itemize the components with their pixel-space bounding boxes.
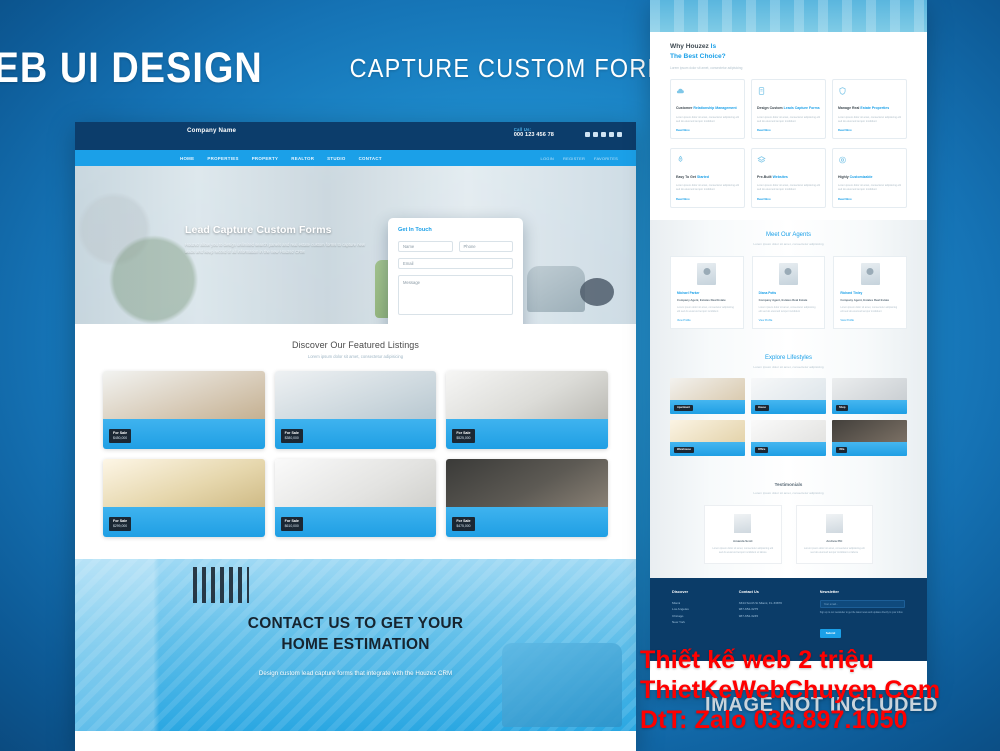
listing-price: $475,000 bbox=[456, 524, 470, 529]
feature-desc: Lorem ipsum dolor sit amet, consectetur … bbox=[838, 116, 901, 124]
feature-title: Highly Customizable bbox=[838, 175, 901, 180]
feature-read-more[interactable]: Read More bbox=[676, 129, 739, 132]
testimonial-name: Andrew Pitt bbox=[804, 539, 866, 543]
agent-name: Diana Potts bbox=[759, 291, 819, 295]
feature-read-more[interactable]: Read More bbox=[838, 198, 901, 201]
lifestyle-photo bbox=[832, 420, 907, 444]
listing-badge: For Sale $380,000 bbox=[281, 429, 303, 444]
why-subheading: Lorem ipsum dolor sit amet, consectetur … bbox=[670, 66, 907, 70]
agent-name: Richard Tinley bbox=[840, 291, 900, 295]
listing-photo bbox=[275, 459, 437, 511]
testimonial-card[interactable]: Amanda Scott Lorem ipsum dolor sit amet,… bbox=[704, 505, 782, 565]
call-us-block: Call Us: 000 123 456 78 bbox=[514, 127, 554, 138]
feature-read-more[interactable]: Read More bbox=[676, 198, 739, 201]
avatar bbox=[779, 263, 798, 285]
footer-discover-column: Discover Miami Los Angeles Chicago New Y… bbox=[672, 590, 729, 639]
linkedin-icon[interactable] bbox=[609, 132, 614, 137]
listing-card[interactable]: For Sale $450,000 bbox=[103, 371, 265, 449]
listing-photo bbox=[446, 371, 608, 423]
listings-grid: For Sale $450,000 For Sale $380,000 bbox=[75, 371, 636, 537]
feature-desc: Lorem ipsum dolor sit amet, consectetur … bbox=[676, 184, 739, 192]
watermark-line-1: Thiết kế web 2 triệu bbox=[640, 646, 874, 675]
listing-price: $525,000 bbox=[456, 436, 470, 441]
twitter-icon[interactable] bbox=[617, 132, 622, 137]
feature-title: Easy To Get Started bbox=[676, 175, 739, 180]
listing-badge: For Sale $475,000 bbox=[452, 517, 474, 532]
hero-text-block: Lead Capture Custom Forms Houzez allow y… bbox=[185, 224, 375, 255]
rocket-icon bbox=[676, 155, 685, 165]
lifestyle-tag: House bbox=[755, 405, 769, 411]
listing-price: $610,000 bbox=[285, 524, 299, 529]
feature-title: Manage Real Estate Properties bbox=[838, 106, 901, 111]
hero-heading: Lead Capture Custom Forms bbox=[185, 224, 375, 236]
facebook-icon[interactable] bbox=[585, 132, 590, 137]
agent-view-profile[interactable]: View Profile bbox=[759, 319, 819, 322]
newsletter-note: Sign up to our newsletter to get the lat… bbox=[820, 612, 905, 616]
nav-item-studio[interactable]: STUDIO bbox=[327, 156, 345, 161]
nav-item-favorites[interactable]: FAVORITES bbox=[594, 156, 618, 161]
agent-desc: Lorem ipsum dolor sit amet, consectetur … bbox=[840, 306, 900, 314]
lifestyle-photo bbox=[670, 378, 745, 402]
testimonial-quote: Lorem ipsum dolor sit amet, consectetur … bbox=[804, 547, 866, 556]
testimonial-photo bbox=[734, 514, 751, 533]
feature-desc: Lorem ipsum dolor sit amet, consectetur … bbox=[676, 116, 739, 124]
listing-badge: For Sale $299,000 bbox=[109, 517, 131, 532]
why-houzez-section: Why Houzez Is The Best Choice? Lorem ips… bbox=[650, 32, 927, 220]
footer-phone-2[interactable]: 987-654-3245 bbox=[739, 613, 810, 619]
cta-heading-line2: HOME ESTIMATION bbox=[75, 634, 636, 655]
site-topbar: Company Name Call Us: 000 123 456 78 bbox=[75, 122, 636, 150]
agent-name: Michael Parker bbox=[677, 291, 737, 295]
lifestyle-tag: Office bbox=[755, 447, 768, 453]
feature-card[interactable]: Design Custom Leads Capture Forms Lorem … bbox=[751, 79, 826, 139]
agents-grid: Michael Parker Company Agent, Estates Re… bbox=[670, 256, 907, 329]
footer-discover-title: Discover bbox=[672, 590, 729, 594]
lifestyle-tile[interactable]: Shop bbox=[832, 378, 907, 414]
lifestyle-tag: Apartment bbox=[674, 405, 693, 411]
cta-heading-line1: CONTACT US TO GET YOUR bbox=[75, 613, 636, 634]
testimonials-heading: Testimonials bbox=[670, 482, 907, 487]
listing-price: $450,000 bbox=[113, 436, 127, 441]
feature-read-more[interactable]: Read More bbox=[757, 198, 820, 201]
message-textarea[interactable]: Message bbox=[398, 275, 513, 315]
watermark-line-2: ThietKeWebChuyen.Com bbox=[640, 676, 940, 705]
listing-price: $299,000 bbox=[113, 524, 127, 529]
testimonials-section: Testimonials Lorem ipsum dolor sit amet,… bbox=[650, 470, 927, 579]
instagram-icon[interactable] bbox=[593, 132, 598, 137]
get-in-touch-form[interactable]: Get In Touch Name Phone Email Message bbox=[388, 218, 523, 324]
nav-links[interactable]: HOME PROPERTIES PROPERTY REALTOR STUDIO … bbox=[180, 156, 382, 161]
cta-section: CONTACT US TO GET YOUR HOME ESTIMATION D… bbox=[75, 559, 636, 731]
listings-subheading: Lorem ipsum dolor sit amet, consectetur … bbox=[75, 354, 636, 359]
cloud-icon bbox=[676, 86, 685, 96]
newsletter-email-input[interactable]: Your email... bbox=[820, 600, 905, 608]
form-icon bbox=[757, 86, 766, 96]
listing-photo bbox=[275, 371, 437, 423]
listing-badge: For Sale $525,000 bbox=[452, 429, 474, 444]
agent-role: Company Agent, Estates Real Estate bbox=[840, 298, 900, 302]
lifestyle-photo bbox=[832, 378, 907, 402]
lifestyle-tile[interactable]: Villa bbox=[832, 420, 907, 456]
feature-title: Design Custom Leads Capture Forms bbox=[757, 106, 820, 111]
agent-view-profile[interactable]: View Profile bbox=[840, 319, 900, 322]
lifestyles-heading: Explore Lifestyles bbox=[670, 355, 907, 361]
hero-section: Lead Capture Custom Forms Houzez allow y… bbox=[75, 166, 636, 324]
lifestyle-photo bbox=[751, 378, 826, 402]
pinterest-icon[interactable] bbox=[601, 132, 606, 137]
listing-photo bbox=[103, 459, 265, 511]
agent-card[interactable]: Diana Potts Company Agent, Estates Real … bbox=[752, 256, 826, 329]
agents-subheading: Lorem ipsum dolor sit amet, consectetur … bbox=[670, 242, 907, 246]
why-cards-row1: Customer Relationship Management Lorem i… bbox=[670, 79, 907, 139]
agent-card[interactable]: Richard Tinley Company Agent, Estates Re… bbox=[833, 256, 907, 329]
agent-view-profile[interactable]: View Profile bbox=[677, 319, 737, 322]
left-website-mockup: Company Name Call Us: 000 123 456 78 HOM… bbox=[75, 122, 636, 751]
feature-card[interactable]: Easy To Get Started Lorem ipsum dolor si… bbox=[670, 148, 745, 208]
listing-price: $380,000 bbox=[285, 436, 299, 441]
agent-role: Company Agent, Estates Real Estate bbox=[677, 298, 737, 302]
lifestyle-tag: Villa bbox=[836, 447, 847, 453]
listing-photo bbox=[446, 459, 608, 511]
email-input[interactable]: Email bbox=[398, 258, 513, 269]
feature-card[interactable]: Pre-Built Websites Lorem ipsum dolor sit… bbox=[751, 148, 826, 208]
settings-icon bbox=[838, 155, 847, 165]
lifestyles-subheading: Lorem ipsum dolor sit amet, consectetur … bbox=[670, 365, 907, 369]
feature-title: Customer Relationship Management bbox=[676, 106, 739, 111]
why-heading: Why Houzez Is The Best Choice? bbox=[670, 42, 907, 62]
agents-heading: Meet Our Agents bbox=[670, 232, 907, 238]
watermark-line-3: DtT: Zalo 036.897.1050 bbox=[640, 706, 908, 735]
avatar bbox=[697, 263, 716, 285]
feature-desc: Lorem ipsum dolor sit amet, consectetur … bbox=[757, 116, 820, 124]
feature-title: Pre-Built Websites bbox=[757, 175, 820, 180]
lifestyles-grid: Apartment House Shop Warehouse bbox=[670, 378, 907, 456]
feature-card[interactable]: Customer Relationship Management Lorem i… bbox=[670, 79, 745, 139]
cta-text-block: CONTACT US TO GET YOUR HOME ESTIMATION D… bbox=[75, 613, 636, 677]
nav-item-home[interactable]: HOME bbox=[180, 156, 194, 161]
agent-card[interactable]: Michael Parker Company Agent, Estates Re… bbox=[670, 256, 744, 329]
feature-desc: Lorem ipsum dolor sit amet, consectetur … bbox=[838, 184, 901, 192]
lifestyle-tag: Warehouse bbox=[674, 447, 694, 453]
form-title: Get In Touch bbox=[398, 227, 513, 233]
lifestyle-tile[interactable]: Office bbox=[751, 420, 826, 456]
hero-body: Houzez allow you to design unlimited sea… bbox=[185, 241, 375, 255]
nav-item-register[interactable]: REGISTER bbox=[563, 156, 585, 161]
banner-main-title: WEB UI DESIGN bbox=[0, 44, 263, 93]
footer-link-new-york[interactable]: New York bbox=[672, 619, 729, 625]
layers-icon bbox=[757, 155, 766, 165]
footer-contact-column: Contact Us 3344 Smith St Miami, FL 33870… bbox=[739, 590, 810, 639]
lifestyle-tile[interactable]: House bbox=[751, 378, 826, 414]
right-website-mockup: Why Houzez Is The Best Choice? Lorem ips… bbox=[650, 0, 927, 690]
poster-stage: WEB UI DESIGN CAPTURE CUSTOM FORMS Compa… bbox=[0, 0, 1000, 751]
testimonial-name: Amanda Scott bbox=[712, 539, 774, 543]
lifestyle-photo bbox=[670, 420, 745, 444]
why-heading-part-a: Why Houzez bbox=[670, 43, 711, 50]
right-hero-photo bbox=[650, 0, 927, 32]
site-navbar: HOME PROPERTIES PROPERTY REALTOR STUDIO … bbox=[75, 150, 636, 166]
nav-secondary-links[interactable]: LOGIN REGISTER FAVORITES bbox=[541, 156, 618, 161]
feature-card[interactable]: Highly Customizable Lorem ipsum dolor si… bbox=[832, 148, 907, 208]
footer-contact-title: Contact Us bbox=[739, 590, 810, 594]
feature-read-more[interactable]: Read More bbox=[838, 129, 901, 132]
social-icons[interactable] bbox=[585, 132, 622, 137]
hero-knot-decor bbox=[580, 278, 614, 306]
footer-newsletter-column: Newsletter Your email... Sign up to our … bbox=[820, 590, 905, 639]
listing-photo bbox=[103, 371, 265, 423]
site-brand[interactable]: Company Name bbox=[187, 127, 236, 135]
testimonials-grid: Amanda Scott Lorem ipsum dolor sit amet,… bbox=[704, 505, 873, 565]
feature-read-more[interactable]: Read More bbox=[757, 129, 820, 132]
phone-input[interactable]: Phone bbox=[459, 241, 514, 252]
why-heading-line2: The Best Choice? bbox=[670, 53, 726, 60]
nav-item-properties[interactable]: PROPERTIES bbox=[207, 156, 238, 161]
feature-card[interactable]: Manage Real Estate Properties Lorem ipsu… bbox=[832, 79, 907, 139]
agent-desc: Lorem ipsum dolor sit amet, consectetur … bbox=[677, 306, 737, 314]
agent-desc: Lorem ipsum dolor sit amet, consectetur … bbox=[759, 306, 819, 314]
newsletter-submit-button[interactable]: Submit bbox=[820, 629, 841, 638]
listing-card[interactable]: For Sale $610,000 bbox=[275, 459, 437, 537]
lifestyle-tag: Shop bbox=[836, 405, 848, 411]
cta-subtext: Design custom lead capture forms that in… bbox=[75, 670, 636, 677]
nav-item-login[interactable]: LOGIN bbox=[541, 156, 554, 161]
listing-badge: For Sale $450,000 bbox=[109, 429, 131, 444]
nav-item-property[interactable]: PROPERTY bbox=[252, 156, 279, 161]
lifestyle-tile[interactable]: Apartment bbox=[670, 378, 745, 414]
name-input[interactable]: Name bbox=[398, 241, 453, 252]
cta-zigzag-decor bbox=[193, 567, 249, 603]
testimonial-quote: Lorem ipsum dolor sit amet, consectetur … bbox=[712, 547, 774, 556]
agents-section: Meet Our Agents Lorem ipsum dolor sit am… bbox=[650, 220, 927, 343]
nav-item-contact[interactable]: CONTACT bbox=[359, 156, 382, 161]
banner: WEB UI DESIGN CAPTURE CUSTOM FORMS bbox=[0, 22, 640, 114]
testimonial-card[interactable]: Andrew Pitt Lorem ipsum dolor sit amet, … bbox=[796, 505, 874, 565]
lifestyles-section: Explore Lifestyles Lorem ipsum dolor sit… bbox=[650, 343, 927, 470]
listings-heading: Discover Our Featured Listings bbox=[75, 340, 636, 350]
why-heading-part-b: Is bbox=[711, 43, 717, 50]
listing-card[interactable]: For Sale $525,000 bbox=[446, 371, 608, 449]
listing-card[interactable]: For Sale $475,000 bbox=[446, 459, 608, 537]
hero-chair-decor bbox=[527, 266, 585, 312]
testimonial-photo bbox=[826, 514, 843, 533]
lifestyle-tile[interactable]: Warehouse bbox=[670, 420, 745, 456]
shield-icon bbox=[838, 86, 847, 96]
nav-item-realtor[interactable]: REALTOR bbox=[291, 156, 314, 161]
call-us-number[interactable]: 000 123 456 78 bbox=[514, 132, 554, 138]
agent-role: Company Agent, Estates Real Estate bbox=[759, 298, 819, 302]
avatar bbox=[861, 263, 880, 285]
listing-card[interactable]: For Sale $380,000 bbox=[275, 371, 437, 449]
footer-newsletter-title: Newsletter bbox=[820, 590, 905, 594]
listing-card[interactable]: For Sale $299,000 bbox=[103, 459, 265, 537]
lifestyle-photo bbox=[751, 420, 826, 444]
listing-badge: For Sale $610,000 bbox=[281, 517, 303, 532]
feature-desc: Lorem ipsum dolor sit amet, consectetur … bbox=[757, 184, 820, 192]
testimonials-subheading: Lorem ipsum dolor sit amet, consectetur … bbox=[670, 491, 907, 495]
footer-grid: Discover Miami Los Angeles Chicago New Y… bbox=[672, 590, 905, 639]
why-cards-row2: Easy To Get Started Lorem ipsum dolor si… bbox=[670, 148, 907, 208]
banner-sub-title: CAPTURE CUSTOM FORMS bbox=[350, 53, 685, 84]
featured-listings-section: Discover Our Featured Listings Lorem ips… bbox=[75, 324, 636, 559]
